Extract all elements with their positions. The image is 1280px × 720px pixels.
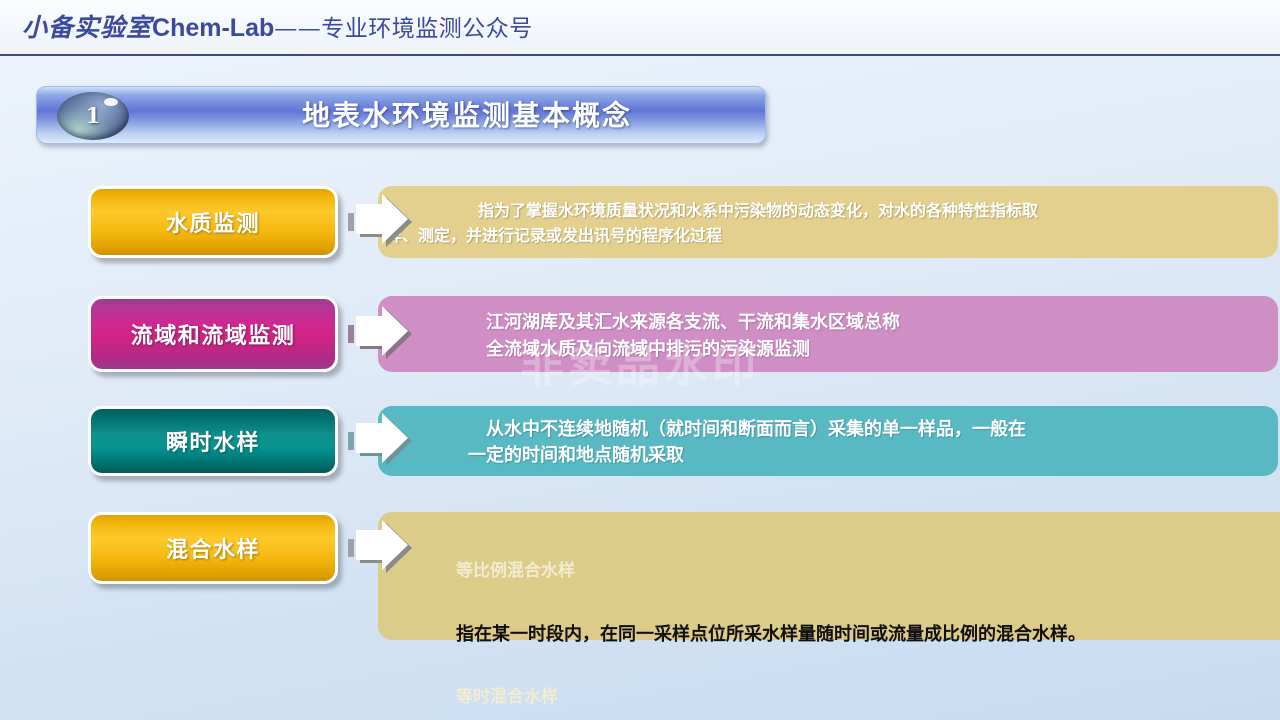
concept-description-panel: 从水中不连续地随机（就时间和断面而言）采集的单一样品，一般在一定的时间和地点随机…	[378, 406, 1278, 476]
slide-canvas: 小备实验室Chem-Lab——专业环境监测公众号 1 地表水环境监测基本概念 指…	[0, 0, 1280, 720]
description-line-2: 全流域水质及向流域中排污的污染源监测	[486, 339, 810, 359]
concept-label-text: 瞬时水样	[91, 409, 335, 473]
arrow-icon	[346, 412, 418, 470]
section-title: 地表水环境监测基本概念	[197, 87, 737, 145]
description-line-2: 样、测定，并进行记录或发出讯号的程序化过程	[386, 224, 722, 249]
section-number-bubble-icon: 1	[57, 92, 129, 140]
concept-row-composite-sample: 等比例混合水样 指在某一时段内，在同一采样点位所采水样量随时间或流量成比例的混合…	[88, 512, 1222, 640]
concept-label-pill[interactable]: 瞬时水样	[88, 406, 338, 476]
subheading-2: 等时混合水样	[456, 684, 1280, 710]
concept-label-text: 水质监测	[91, 189, 335, 255]
description-line-1: 江河湖库及其汇水来源各支流、干流和集水区域总称	[486, 312, 900, 332]
arrow-icon	[346, 305, 418, 363]
concept-description-panel: 江河湖库及其汇水来源各支流、干流和集水区域总称全流域水质及向流域中排污的污染源监…	[378, 296, 1278, 372]
brand-name-cn: 小备实验室	[22, 13, 152, 42]
concept-label-pill[interactable]: 流域和流域监测	[88, 296, 338, 372]
concept-description-text: 指为了掌握水环境质量状况和水系中污染物的动态变化，对水的各种特性指标取样、测定，…	[478, 199, 1260, 249]
header-title: 小备实验室Chem-Lab——专业环境监测公众号	[22, 12, 533, 45]
concept-description-text: 从水中不连续地随机（就时间和断面而言）采集的单一样品，一般在一定的时间和地点随机…	[486, 416, 1260, 468]
description-line-2: 一定的时间和地点随机采取	[468, 442, 684, 468]
section-number: 1	[57, 92, 129, 140]
concept-description-text: 江河湖库及其汇水来源各支流、干流和集水区域总称全流域水质及向流域中排污的污染源监…	[486, 309, 1260, 363]
concept-label-text: 流域和流域监测	[91, 299, 335, 369]
header-band: 小备实验室Chem-Lab——专业环境监测公众号	[0, 0, 1280, 56]
body-text-1: 指在某一时段内，在同一采样点位所采水样量随时间或流量成比例的混合水样。	[456, 620, 1280, 648]
concept-label-text: 混合水样	[91, 515, 335, 581]
concept-description-text: 等比例混合水样 指在某一时段内，在同一采样点位所采水样量随时间或流量成比例的混合…	[456, 522, 1280, 720]
concept-row-basin-monitoring: 江河湖库及其汇水来源各支流、干流和集水区域总称全流域水质及向流域中排污的污染源监…	[88, 296, 1192, 372]
concept-description-panel: 等比例混合水样 指在某一时段内，在同一采样点位所采水样量随时间或流量成比例的混合…	[378, 512, 1280, 640]
concept-description-panel: 指为了掌握水环境质量状况和水系中污染物的动态变化，对水的各种特性指标取样、测定，…	[378, 186, 1278, 258]
arrow-icon	[346, 193, 418, 251]
arrow-icon	[346, 519, 418, 577]
header-subtitle: ——专业环境监测公众号	[274, 16, 533, 42]
subheading-1: 等比例混合水样	[456, 558, 1280, 584]
concept-row-water-quality: 指为了掌握水环境质量状况和水系中污染物的动态变化，对水的各种特性指标取样、测定，…	[88, 186, 1192, 258]
concept-label-pill[interactable]: 混合水样	[88, 512, 338, 584]
section-title-bar: 1 地表水环境监测基本概念	[36, 86, 766, 144]
brand-name-en: Chem-Lab	[152, 14, 274, 42]
concept-row-grab-sample: 从水中不连续地随机（就时间和断面而言）采集的单一样品，一般在一定的时间和地点随机…	[88, 406, 1192, 476]
concept-label-pill[interactable]: 水质监测	[88, 186, 338, 258]
description-line-1: 从水中不连续地随机（就时间和断面而言）采集的单一样品，一般在	[486, 419, 1026, 439]
description-line-1: 指为了掌握水环境质量状况和水系中污染物的动态变化，对水的各种特性指标取	[478, 203, 1038, 220]
